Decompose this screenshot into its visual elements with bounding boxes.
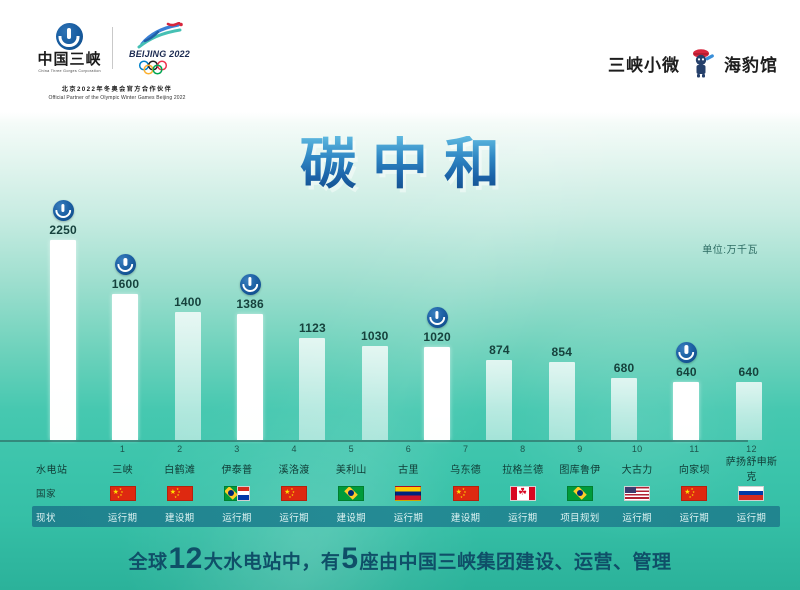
index-cell: 12 [723, 444, 780, 454]
status-cell: 运行期 [94, 510, 151, 524]
index-cell: 5 [323, 444, 380, 454]
brand-name-sanxia: 三峡小微 [608, 51, 680, 76]
status-cell: 建设期 [151, 510, 208, 524]
bar-value-label: 1020 [423, 330, 451, 344]
country-flag-cell [723, 486, 780, 501]
country-flag-cell: ★★★★★ [266, 486, 323, 501]
brand-name-haibaoguan: 海豹馆 [724, 51, 778, 76]
index-cell: 7 [437, 444, 494, 454]
flag-usa [624, 488, 650, 499]
country-flag-cell: ☘ [494, 486, 551, 501]
flag-china-icon: ★★★★★ [453, 486, 479, 501]
status-cell: 运行期 [380, 510, 437, 524]
country-flag-cell: ★★★★★ [151, 486, 208, 501]
table-row-station: 水电站 三峡白鹤滩伊泰普溪洛渡美利山古里乌东德拉格兰德图库鲁伊大古力向家坝萨扬舒… [32, 456, 780, 480]
index-cell: 1 [94, 444, 151, 454]
index-cell: 3 [208, 444, 265, 454]
flag-china: ★★★★★ [681, 488, 707, 499]
station-name-cell: 美利山 [323, 461, 380, 476]
footer-number-ctg: 5 [340, 544, 359, 574]
index-cell: 11 [666, 444, 723, 454]
bar-rect [237, 314, 263, 440]
bar-rect [112, 294, 138, 440]
bar-value-label: 1030 [361, 329, 389, 343]
station-name-cell: 大古力 [609, 461, 666, 476]
logo-row: 中国三峡 China Three Gorges Corporation [22, 22, 212, 74]
country-flag-cell [551, 486, 608, 501]
mascot-icon [689, 48, 715, 78]
footer-middle: 大水电站中，有 [204, 547, 341, 574]
ctg-company-name-en: China Three Gorges Corporation [38, 69, 101, 73]
ctg-logo: 中国三峡 China Three Gorges Corporation [37, 23, 101, 73]
station-name-cell: 乌东德 [437, 461, 494, 476]
bar-value-label: 1386 [236, 297, 264, 311]
flag-china: ★★★★★ [453, 488, 479, 499]
bar-slot: 2250 [32, 200, 94, 440]
brand-right-block: 三峡小微 海豹馆 [608, 48, 778, 78]
flag-china: ★★★★★ [110, 488, 136, 499]
country-flag-cell [380, 486, 437, 501]
bar-slot: 854 [531, 200, 593, 440]
flag-china-icon: ★★★★★ [281, 486, 307, 501]
flag-russia [738, 488, 764, 499]
status-cell: 运行期 [723, 510, 780, 524]
bar-value-label: 1123 [299, 321, 326, 335]
ctg-emblem-icon [53, 200, 74, 221]
station-name-cell: 萨扬舒申斯克 [723, 453, 780, 483]
index-cell: 2 [151, 444, 208, 454]
ctg-olympic-logo-block: 中国三峡 China Three Gorges Corporation [22, 22, 212, 74]
flag-usa-icon [624, 486, 650, 501]
status-cell: 运行期 [208, 510, 265, 524]
header: 中国三峡 China Three Gorges Corporation [0, 0, 800, 112]
country-flag-cell: ★★★★★ [666, 486, 723, 501]
footer-statement: 全球 12 大水电站中，有 5 座由中国三峡集团建设、运营、管理 [128, 544, 671, 574]
bar-slot: 680 [593, 200, 655, 440]
ctg-company-name-cn: 中国三峡 [37, 52, 101, 69]
flag-venezuela [395, 488, 421, 499]
station-name-cell: 拉格兰德 [494, 461, 551, 476]
bar-slot: 640 [655, 200, 717, 440]
ctg-emblem-icon [240, 274, 261, 295]
flag-canada-icon: ☘ [510, 486, 536, 501]
country-flag-cell: ★★★★★ [94, 486, 151, 501]
index-cell: 10 [609, 444, 666, 454]
olympic-rings-icon [136, 60, 184, 75]
partner-text-en: Official Partner of the Olympic Winter G… [22, 95, 212, 101]
flag-brazil [567, 488, 593, 499]
index-cell: 4 [266, 444, 323, 454]
bar-slot: 640 [718, 200, 780, 440]
bar-slot: 1600 [94, 200, 156, 440]
beijing-2022-swoosh-icon [128, 22, 192, 49]
bar-value-label: 854 [551, 345, 572, 359]
bar-value-label: 1600 [112, 277, 140, 291]
table-row-country: 国家 ★★★★★★★★★★★★★★★★★★★★☘★★★★★ [32, 480, 780, 506]
bar-group: 2250160014001386112310301020874854680640… [32, 200, 780, 440]
flag-brazil-paraguay [224, 486, 250, 501]
flag-venezuela-icon [395, 486, 421, 501]
bar-rect [362, 346, 388, 440]
status-cell: 项目规划 [551, 510, 608, 524]
bar-rect [549, 362, 575, 440]
bar-slot: 1400 [157, 200, 219, 440]
flag-canada: ☘ [510, 488, 536, 499]
flag-brazil [338, 488, 364, 499]
station-name-cell: 图库鲁伊 [551, 461, 608, 476]
data-table: 123456789101112 水电站 三峡白鹤滩伊泰普溪洛渡美利山古里乌东德拉… [32, 441, 780, 527]
flag-brazil-icon [567, 486, 593, 501]
flag-russia-icon [738, 486, 764, 501]
bar-slot: 1123 [281, 200, 343, 440]
bar-rect [299, 338, 325, 440]
bar-value-label: 640 [738, 365, 759, 379]
flag-china-icon: ★★★★★ [681, 486, 707, 501]
status-cell: 运行期 [609, 510, 666, 524]
bar-slot: 1386 [219, 200, 281, 440]
bar-rect [673, 382, 699, 440]
page-title: 碳中和 [0, 136, 800, 192]
status-cell: 运行期 [666, 510, 723, 524]
bar-rect [175, 312, 201, 440]
table-row-index: 123456789101112 [32, 441, 780, 456]
station-name-cell: 白鹤滩 [151, 461, 208, 476]
status-cell: 运行期 [494, 510, 551, 524]
partner-text-cn: 北京2022年冬奥会官方合作伙伴 [22, 84, 212, 93]
bar-slot: 1030 [344, 200, 406, 440]
flag-paraguay-icon [237, 486, 250, 501]
country-flag-cell [323, 486, 380, 501]
flag-china-icon: ★★★★★ [110, 486, 136, 501]
bar-value-label: 1400 [174, 295, 202, 309]
table-row-status: 现状 运行期建设期运行期运行期建设期运行期建设期运行期项目规划运行期运行期运行期 [32, 506, 780, 527]
bar-slot: 1020 [406, 200, 468, 440]
flag-brazil-icon [338, 486, 364, 501]
row-label-status: 现状 [32, 510, 94, 524]
status-cell: 运行期 [266, 510, 323, 524]
footer-banner: 全球 12 大水电站中，有 5 座由中国三峡集团建设、运营、管理 [0, 528, 800, 590]
beijing-2022-logo: BEIJING 2022 [123, 22, 197, 75]
bar-value-label: 680 [614, 361, 635, 375]
country-flag-cell [208, 486, 265, 501]
station-name-cell: 向家坝 [666, 461, 723, 476]
station-name-cell: 溪洛渡 [266, 461, 323, 476]
bar-value-label: 640 [676, 365, 697, 379]
flag-brazil-icon [224, 486, 237, 501]
bar-rect [486, 360, 512, 440]
infographic-page: 中国三峡 China Three Gorges Corporation [0, 0, 800, 590]
ctg-emblem-icon [56, 23, 83, 50]
bar-rect [50, 240, 76, 440]
status-cell: 建设期 [437, 510, 494, 524]
bar-rect [424, 347, 450, 440]
ctg-emblem-icon [427, 307, 448, 328]
ctg-emblem-icon [676, 342, 697, 363]
station-name-cell: 三峡 [94, 461, 151, 476]
station-name-cell: 伊泰普 [208, 461, 265, 476]
bar-rect [611, 378, 637, 440]
flag-china: ★★★★★ [167, 488, 193, 499]
index-cell: 8 [494, 444, 551, 454]
row-label-country: 国家 [32, 486, 94, 500]
status-cell: 建设期 [323, 510, 380, 524]
flag-china-icon: ★★★★★ [167, 486, 193, 501]
footer-prefix: 全球 [128, 547, 167, 574]
bar-slot: 874 [468, 200, 530, 440]
logo-divider [112, 27, 113, 69]
country-flag-cell [609, 486, 666, 501]
ctg-emblem-icon [115, 254, 136, 275]
bar-value-label: 874 [489, 343, 510, 357]
bar-value-label: 2250 [49, 223, 77, 237]
row-label-station: 水电站 [32, 461, 94, 476]
country-flag-cell: ★★★★★ [437, 486, 494, 501]
beijing-2022-wordmark: BEIJING 2022 [129, 49, 190, 59]
station-name-cell: 古里 [380, 461, 437, 476]
index-cell: 6 [380, 444, 437, 454]
olympic-partner-line: 北京2022年冬奥会官方合作伙伴 Official Partner of the… [22, 84, 212, 101]
bar-chart: 2250160014001386112310301020874854680640… [32, 200, 780, 440]
flag-china: ★★★★★ [281, 488, 307, 499]
footer-number-total: 12 [167, 544, 203, 574]
footer-suffix: 座由中国三峡集团建设、运营、管理 [360, 547, 672, 574]
index-cell: 9 [551, 444, 608, 454]
bar-rect [736, 382, 762, 440]
